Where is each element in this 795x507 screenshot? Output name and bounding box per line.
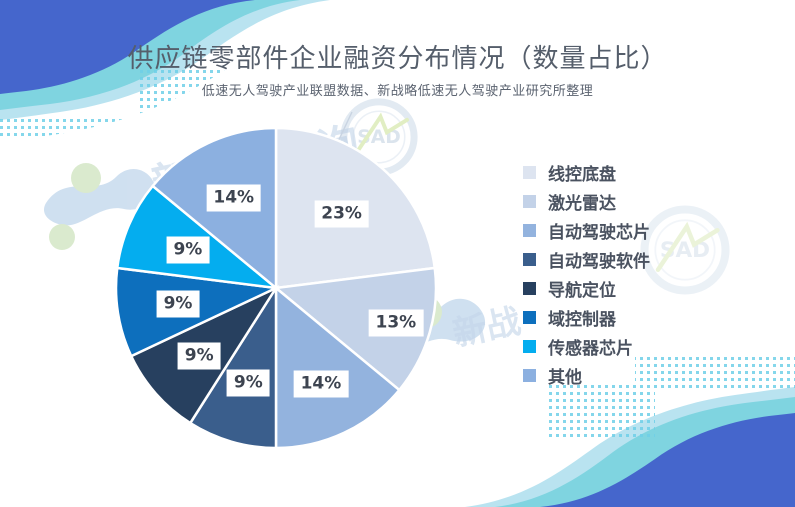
pie-slice-label: 9% [157,290,200,317]
legend-item-label: 自动驾驶软件 [548,247,650,272]
legend-item-label: 激光雷达 [548,189,616,214]
chart-canvas: 供应链零部件企业融资分布情况（数量占比） 低速无人驾驶产业联盟数据、新战略低速无… [0,0,795,507]
legend-item[interactable]: 激光雷达 [523,187,723,216]
pie-chart: 23%13%14%9%9%9%9%14% [60,100,500,480]
legend-item-label: 其他 [548,363,582,388]
legend-swatch-icon [523,340,536,353]
legend-item[interactable]: 导航定位 [523,274,723,303]
legend-swatch-icon [523,369,536,382]
title-block: 供应链零部件企业融资分布情况（数量占比） 低速无人驾驶产业联盟数据、新战略低速无… [0,42,795,99]
legend-item-label: 传感器芯片 [548,334,633,359]
legend-item[interactable]: 其他 [523,361,723,390]
legend-swatch-icon [523,195,536,208]
legend-swatch-icon [523,282,536,295]
chart-legend: 线控底盘激光雷达自动驾驶芯片自动驾驶软件导航定位域控制器传感器芯片其他 [523,158,723,390]
legend-item[interactable]: 域控制器 [523,303,723,332]
pie-slice-label: 23% [314,200,369,227]
legend-swatch-icon [523,166,536,179]
legend-item[interactable]: 线控底盘 [523,158,723,187]
pie-slice-label: 13% [368,309,423,336]
pie-slice-label: 14% [294,370,349,397]
legend-item-label: 自动驾驶芯片 [548,218,650,243]
pie-slice-group [116,128,436,448]
legend-item-label: 线控底盘 [548,160,616,185]
pie-slice-label: 9% [178,342,221,369]
chart-title: 供应链零部件企业融资分布情况（数量占比） [0,42,795,76]
chart-subtitle: 低速无人驾驶产业联盟数据、新战略低速无人驾驶产业研究所整理 [0,80,795,99]
pie-slice-label: 9% [227,370,270,397]
legend-item-label: 导航定位 [548,276,616,301]
pie-slice-label: 14% [206,185,261,212]
legend-item[interactable]: 自动驾驶软件 [523,245,723,274]
legend-item[interactable]: 传感器芯片 [523,332,723,361]
legend-swatch-icon [523,224,536,237]
legend-item-label: 域控制器 [548,305,616,330]
pie-slice-label: 9% [166,236,209,263]
legend-item[interactable]: 自动驾驶芯片 [523,216,723,245]
legend-swatch-icon [523,253,536,266]
legend-swatch-icon [523,311,536,324]
